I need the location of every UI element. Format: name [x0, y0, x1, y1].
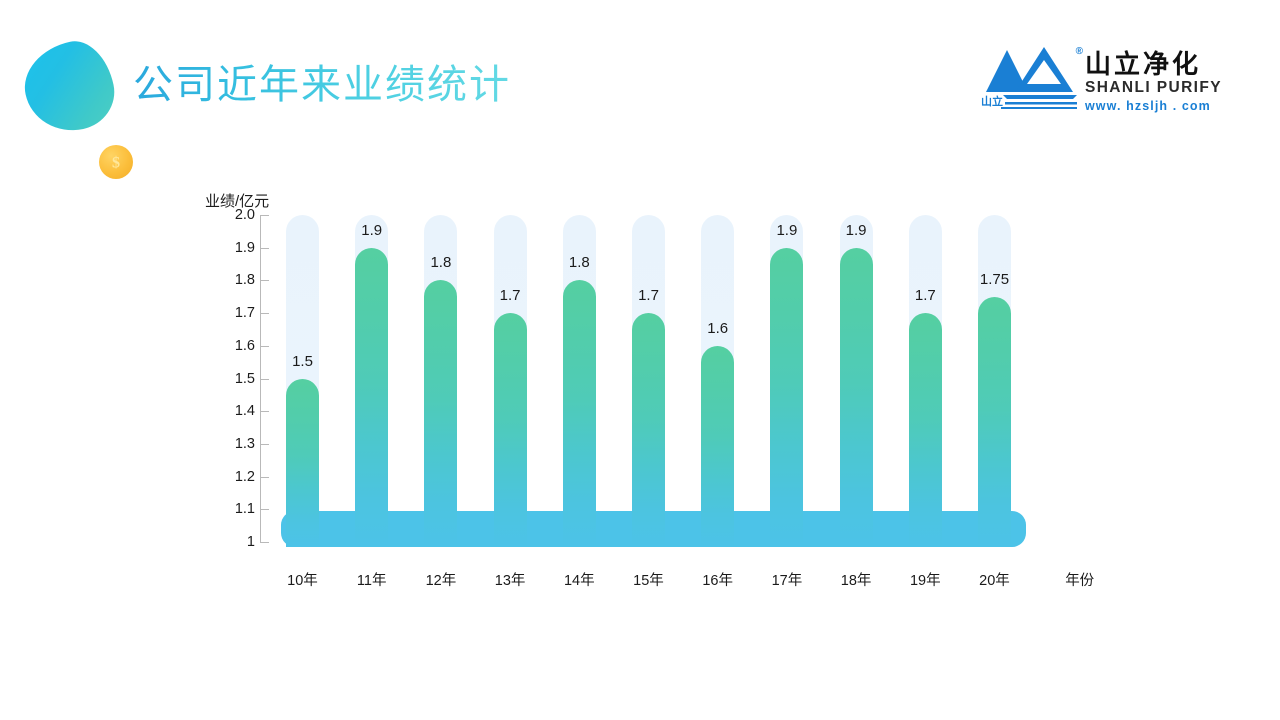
x-axis-tick-label: 16年: [702, 569, 733, 590]
logo-text-block: 山立净化 SHANLI PURIFY www. hzsljh . com: [1085, 44, 1222, 112]
y-axis-tick-label: 1.6: [205, 338, 255, 354]
coin-dollar-icon: $: [99, 145, 133, 179]
bar-value-label: 1.5: [292, 353, 313, 370]
performance-bar-chart: 业绩/亿元 2.01.91.81.71.61.51.41.31.21.11 1.…: [205, 190, 1105, 590]
y-axis-tick-label: 1.8: [205, 272, 255, 288]
x-axis-tick-label: 10年: [287, 569, 318, 590]
plot-area: 2.01.91.81.71.61.51.41.31.21.11 1.51.91.…: [205, 215, 1105, 555]
bar-value-label: 1.75: [980, 271, 1009, 288]
bar[interactable]: [978, 297, 1011, 547]
registered-trademark-icon: ®: [1076, 46, 1083, 57]
y-axis-tick-label: 1.2: [205, 469, 255, 485]
company-logo: ® 山立 山立净化 SHANLI PURIFY www. hzsljh . co…: [981, 44, 1222, 112]
bar-value-label: 1.7: [638, 287, 659, 304]
y-axis-tick-label: 2.0: [205, 207, 255, 223]
y-axis-tick-label-wrap: 1.3: [205, 444, 255, 460]
x-axis-tick-label: 20年: [979, 569, 1010, 590]
x-axis-tick-label: 19年: [910, 569, 941, 590]
x-axis-tick-label: 18年: [841, 569, 872, 590]
x-axis-tick-label: 15年: [633, 569, 664, 590]
x-axis-tick-label: 11年: [357, 569, 387, 590]
bar[interactable]: [701, 346, 734, 547]
y-axis-tick-label: 1.5: [205, 371, 255, 387]
svg-text:$: $: [112, 155, 120, 172]
bar[interactable]: [286, 379, 319, 548]
bar-value-label: 1.8: [569, 254, 590, 271]
logo-website-url: www. hzsljh . com: [1085, 100, 1222, 113]
bar[interactable]: [424, 280, 457, 547]
y-axis-tick-label-wrap: 1: [205, 542, 255, 558]
y-axis-tick-label: 1.4: [205, 403, 255, 419]
decorative-blob: [17, 35, 121, 139]
y-axis-tick-label-wrap: 1.7: [205, 313, 255, 329]
bar[interactable]: [494, 313, 527, 547]
bar-value-label: 1.7: [500, 287, 521, 304]
x-axis-title: 年份: [1065, 569, 1094, 590]
logo-name-cn: 山立净化: [1085, 51, 1222, 77]
x-axis-tick-label: 17年: [772, 569, 803, 590]
bar[interactable]: [632, 313, 665, 547]
bar-value-label: 1.6: [707, 320, 728, 337]
bar-value-label: 1.9: [846, 222, 867, 239]
y-axis-tick-label: 1.1: [205, 501, 255, 517]
x-axis-tick-label: 12年: [426, 569, 457, 590]
bar[interactable]: [563, 280, 596, 547]
x-axis-tick-label: 14年: [564, 569, 595, 590]
slide-root: $ 公司近年来业绩统计 ® 山立 山立净化 SHANLI PURIFY www.…: [0, 0, 1280, 720]
y-axis-tick-label-wrap: 1.1: [205, 509, 255, 525]
y-axis-tick-label: 1.9: [205, 240, 255, 256]
y-axis-tick-label-wrap: 1.4: [205, 411, 255, 427]
logo-name-en: SHANLI PURIFY: [1085, 80, 1222, 96]
y-axis-tick-label: 1.3: [205, 436, 255, 452]
bar-value-label: 1.9: [361, 222, 382, 239]
bar[interactable]: [909, 313, 942, 547]
bar[interactable]: [770, 248, 803, 547]
bar-value-label: 1.8: [430, 254, 451, 271]
bar[interactable]: [355, 248, 388, 547]
y-axis-tick-label: 1.7: [205, 305, 255, 321]
bar[interactable]: [840, 248, 873, 547]
logo-mountain-icon: ® 山立: [981, 44, 1079, 110]
y-axis-tick-label: 1: [205, 534, 255, 550]
y-axis-tick-label-wrap: 2.0: [205, 215, 255, 231]
y-axis-tick-label-wrap: 1.8: [205, 280, 255, 296]
bars-container: 1.51.91.81.71.81.71.61.91.91.71.75: [261, 215, 1061, 547]
bar-value-label: 1.7: [915, 287, 936, 304]
page-title: 公司近年来业绩统计: [133, 63, 511, 107]
logo-mark-label: 山立: [981, 93, 1003, 109]
x-axis-tick-label: 13年: [495, 569, 526, 590]
y-axis-tick-label-wrap: 1.5: [205, 379, 255, 395]
y-axis-tick-label-wrap: 1.2: [205, 477, 255, 493]
y-axis-tick-label-wrap: 1.9: [205, 248, 255, 264]
y-axis-tick-label-wrap: 1.6: [205, 346, 255, 362]
bar-value-label: 1.9: [776, 222, 797, 239]
